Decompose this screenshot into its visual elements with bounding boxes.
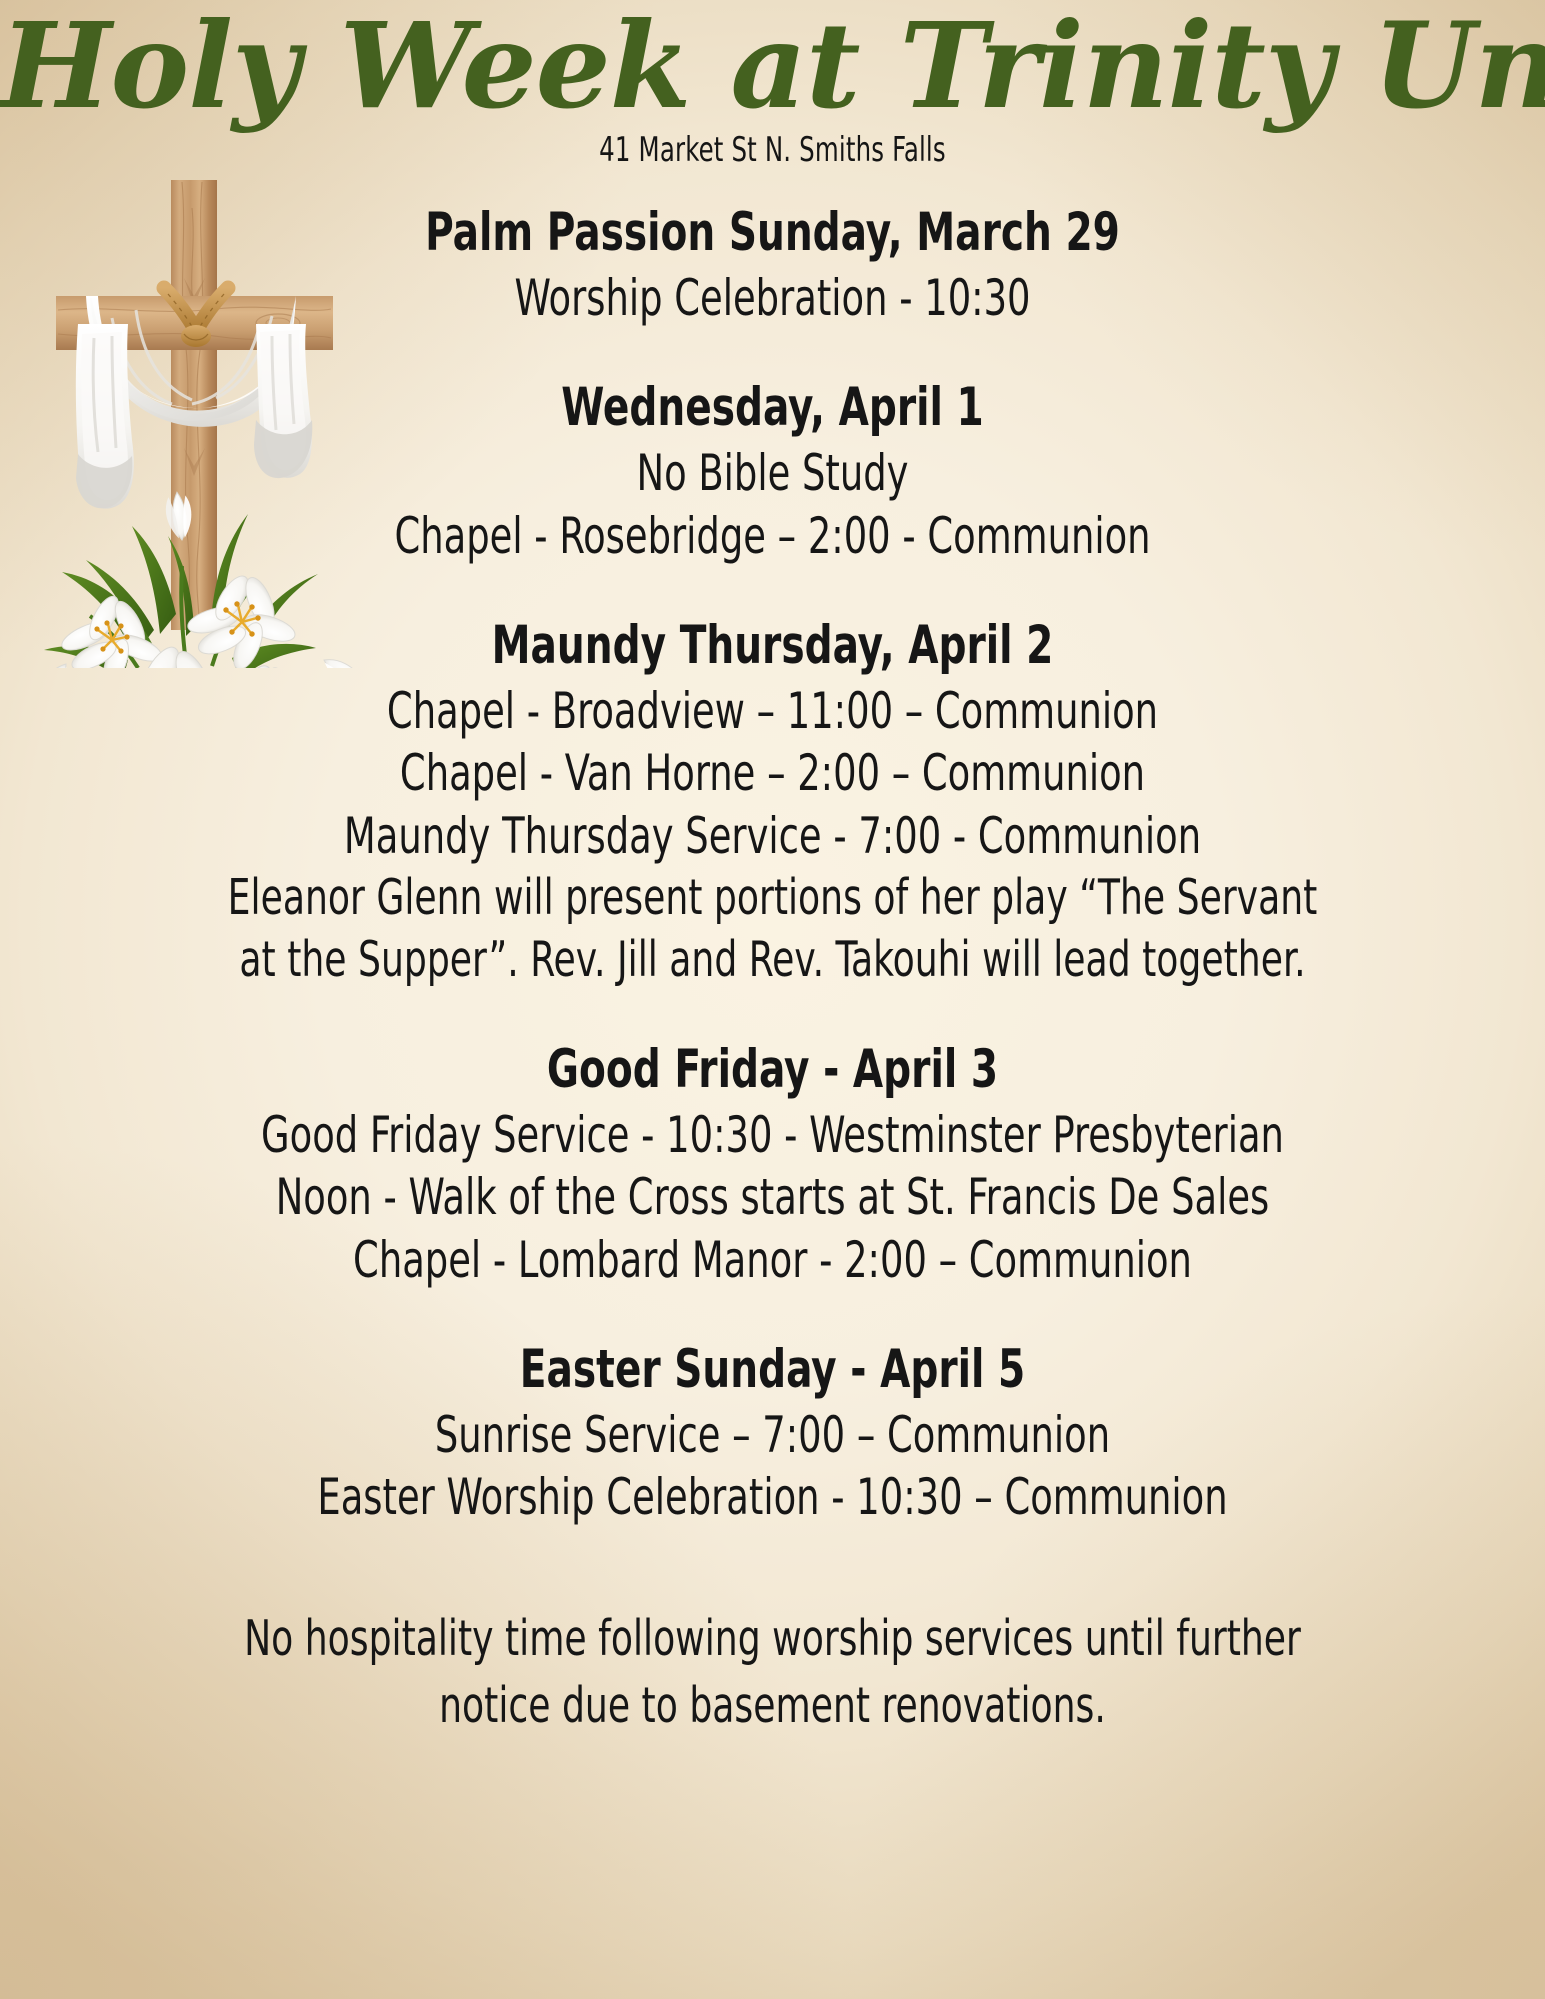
event-wednesday: Wednesday, April 1 No Bible Study Chapel… xyxy=(0,375,1545,567)
event-detail-line: Easter Worship Celebration - 10:30 – Com… xyxy=(139,1466,1406,1529)
event-easter-sunday: Easter Sunday - April 5 Sunrise Service … xyxy=(0,1337,1545,1529)
event-maundy-thursday: Maundy Thursday, April 2 Chapel - Broadv… xyxy=(0,613,1545,991)
event-heading: Maundy Thursday, April 2 xyxy=(139,613,1406,680)
event-detail-line: Chapel - Lombard Manor - 2:00 – Communio… xyxy=(139,1229,1406,1292)
event-detail-line: Sunrise Service – 7:00 – Communion xyxy=(139,1404,1406,1467)
event-detail-line: Noon - Walk of the Cross starts at St. F… xyxy=(139,1166,1406,1229)
event-detail-line: Maundy Thursday Service - 7:00 - Communi… xyxy=(139,805,1406,868)
event-heading: Wednesday, April 1 xyxy=(139,375,1406,442)
hospitality-notice-line: notice due to basement renovations. xyxy=(139,1672,1406,1740)
event-detail-line: Chapel - Van Horne – 2:00 – Communion xyxy=(139,742,1406,805)
event-detail-line: Worship Celebration - 10:30 xyxy=(139,267,1406,330)
event-heading: Palm Passion Sunday, March 29 xyxy=(139,200,1406,267)
event-heading: Easter Sunday - April 5 xyxy=(139,1337,1406,1404)
event-heading: Good Friday - April 3 xyxy=(139,1037,1406,1104)
event-palm-passion-sunday: Palm Passion Sunday, March 29 Worship Ce… xyxy=(0,200,1545,329)
hospitality-notice: No hospitality time following worship se… xyxy=(0,1605,1545,1740)
hospitality-notice-line: No hospitality time following worship se… xyxy=(139,1605,1406,1673)
church-address: 41 Market St N. Smiths Falls xyxy=(155,130,1391,170)
event-detail-line: Good Friday Service - 10:30 - Westminste… xyxy=(139,1104,1406,1167)
event-note-line: at the Supper”. Rev. Jill and Rev. Takou… xyxy=(139,929,1406,991)
event-detail-line: No Bible Study xyxy=(139,442,1406,505)
poster-canvas: Holy Week at Trinity United 41 Market St… xyxy=(0,0,1545,1999)
holy-week-schedule: Palm Passion Sunday, March 29 Worship Ce… xyxy=(0,200,1545,1740)
event-note-line: Eleanor Glenn will present portions of h… xyxy=(139,867,1406,929)
page-title: Holy Week at Trinity United xyxy=(0,6,1545,126)
event-detail-line: Chapel - Broadview – 11:00 – Communion xyxy=(139,680,1406,743)
event-detail-line: Chapel - Rosebridge – 2:00 - Communion xyxy=(139,505,1406,568)
event-good-friday: Good Friday - April 3 Good Friday Servic… xyxy=(0,1037,1545,1291)
